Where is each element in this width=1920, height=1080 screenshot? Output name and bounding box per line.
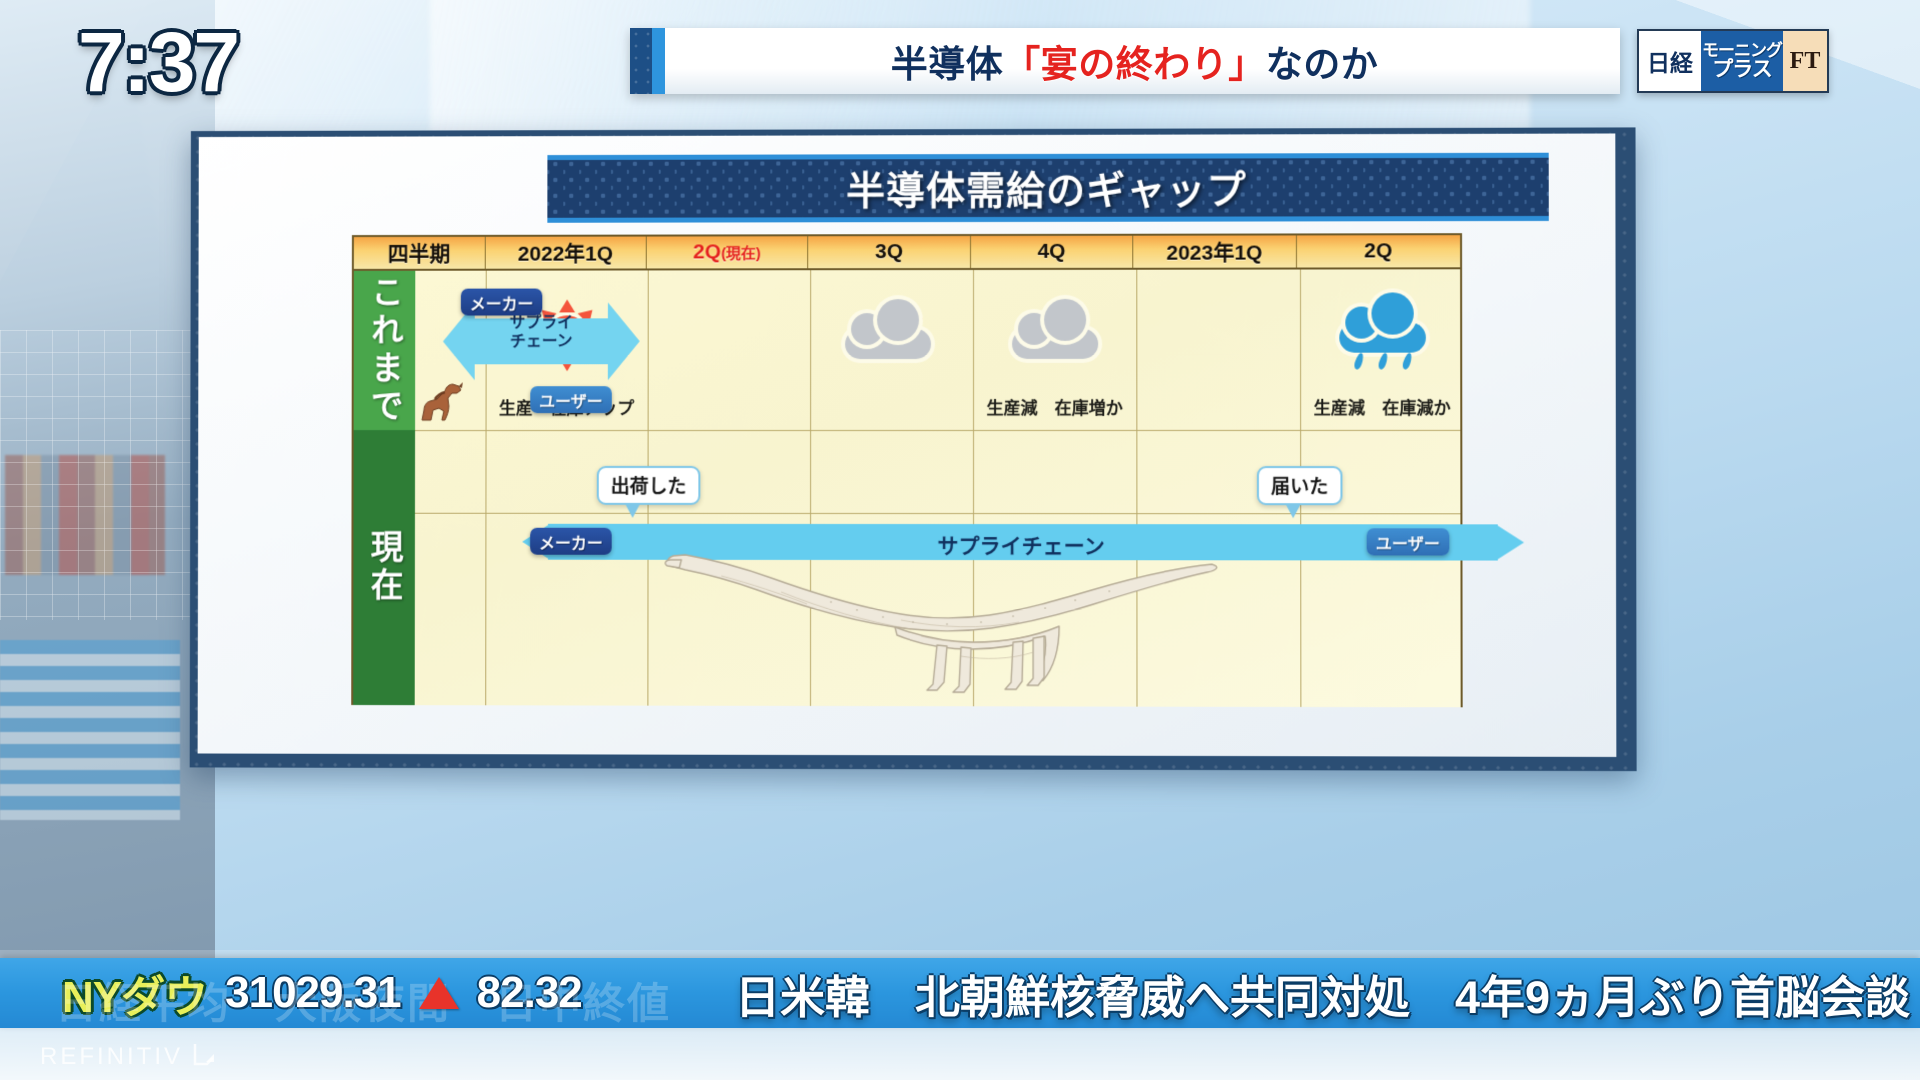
table-header-cell: 2022年1Q bbox=[485, 237, 646, 269]
weather-cell-2023-2q bbox=[1300, 279, 1464, 389]
headline-part-1: 半導体 bbox=[891, 34, 1004, 88]
rain-icon bbox=[1339, 304, 1426, 352]
ticker-index-value: 31029.31 bbox=[225, 968, 401, 1018]
graphic-title: 半導体需給のギャップ bbox=[846, 159, 1247, 216]
graphic-panel-frame: 半導体需給のギャップ 四半期 2022年1Q 2Q(現在) 3Q 4Q 2023… bbox=[190, 127, 1637, 771]
channel-logo: 日経 モーニング プラス FT bbox=[1637, 29, 1829, 93]
background-blue-blinds bbox=[0, 640, 180, 820]
supply-chain-label-short: サプライ チェーン bbox=[443, 314, 640, 352]
headline-text: 半導体 「宴の終わり」 なのか bbox=[665, 28, 1620, 94]
program-headline-bar: 半導体 「宴の終わり」 なのか bbox=[630, 28, 1620, 94]
horse-icon bbox=[415, 380, 467, 424]
user-badge-past: ユーザー bbox=[530, 386, 611, 413]
ticker-news-headline: 日米韓 北朝鮮核脅威へ共同対処 4年9ヵ月ぶり首脳会談 bbox=[735, 961, 1910, 1026]
refinitiv-label: REFINITIV bbox=[40, 1043, 183, 1071]
ticker-change-value: 82.32 bbox=[477, 968, 582, 1018]
row-label-now: 現在 bbox=[353, 430, 415, 705]
cloud-icon bbox=[1012, 311, 1098, 359]
ticker-news-section: 日米韓 北朝鮮核脅威へ共同対処 4年9ヵ月ぶり首脳会談 bbox=[735, 961, 1920, 1026]
headline-part-2: 「宴の終わり」 bbox=[1003, 34, 1266, 88]
background-grid bbox=[0, 330, 205, 620]
weather-label-4q: 生産減 在庫増か bbox=[973, 394, 1136, 419]
logo-morning-line2: プラス bbox=[1712, 59, 1772, 80]
logo-morning-plus: モーニング プラス bbox=[1701, 31, 1783, 91]
table-header-cell: 2Q bbox=[1296, 235, 1460, 267]
bubble-shipped: 出荷した bbox=[597, 466, 701, 505]
on-screen-clock: 7:37 bbox=[78, 14, 238, 111]
table-header-cell: 4Q bbox=[971, 236, 1134, 268]
refinitiv-logo-icon bbox=[191, 1042, 217, 1072]
sauropod-dinosaur-icon bbox=[661, 532, 1222, 705]
maker-badge-now: メーカー bbox=[530, 528, 612, 555]
table-gridline bbox=[354, 430, 1461, 431]
headline-tab-dark bbox=[630, 28, 652, 94]
header-quarter-suffix: (現在) bbox=[721, 242, 761, 263]
ticker-index-name: NYダウ bbox=[62, 961, 207, 1025]
logo-ft: FT bbox=[1783, 31, 1827, 91]
graphic-panel-white: 半導体需給のギャップ 四半期 2022年1Q 2Q(現在) 3Q 4Q 2023… bbox=[198, 133, 1617, 756]
table-header-cell: 3Q bbox=[808, 236, 970, 268]
row-label-past: これまで bbox=[354, 271, 416, 430]
supply-chain-label-line1: サプライ bbox=[443, 314, 640, 333]
supply-chain-label-line2: チェーン bbox=[443, 333, 640, 352]
table-header-cell-current: 2Q(現在) bbox=[647, 236, 809, 268]
bubble-arrived: 届いた bbox=[1257, 466, 1343, 505]
header-quarter-label: 2Q bbox=[693, 240, 721, 264]
ticker-market-section: NYダウ 31029.31 82.32 bbox=[0, 961, 735, 1025]
logo-morning-line1: モーニング bbox=[1702, 42, 1782, 59]
weather-cell-4q bbox=[973, 280, 1136, 390]
table-header-row: 四半期 2022年1Q 2Q(現在) 3Q 4Q 2023年1Q 2Q bbox=[354, 235, 1460, 271]
partly-cloudy-icon bbox=[845, 311, 931, 359]
table-header-cell: 2023年1Q bbox=[1133, 235, 1296, 267]
refinitiv-watermark: REFINITIV bbox=[40, 1042, 217, 1072]
weather-label-2023-2q: 生産減 在庫減か bbox=[1300, 394, 1464, 419]
graphic-title-band: 半導体需給のギャップ bbox=[547, 153, 1548, 223]
table-header-cell: 四半期 bbox=[354, 237, 485, 269]
user-badge-now: ユーザー bbox=[1367, 528, 1449, 555]
headline-tab-light bbox=[652, 28, 665, 94]
maker-badge-past: メーカー bbox=[461, 289, 542, 316]
table-body: 生産 在庫アップ bbox=[353, 269, 1460, 707]
headline-part-3: なのか bbox=[1266, 34, 1379, 88]
supply-demand-table: 四半期 2022年1Q 2Q(現在) 3Q 4Q 2023年1Q 2Q bbox=[351, 233, 1462, 707]
weather-cell-3q bbox=[810, 280, 973, 390]
logo-nikkei: 日経 bbox=[1639, 31, 1701, 91]
ticker-up-triangle-icon bbox=[419, 977, 459, 1009]
market-news-ticker: 日経平均 大阪夜間 日中終値 NYダウ 31029.31 82.32 日米韓 北… bbox=[0, 958, 1920, 1028]
